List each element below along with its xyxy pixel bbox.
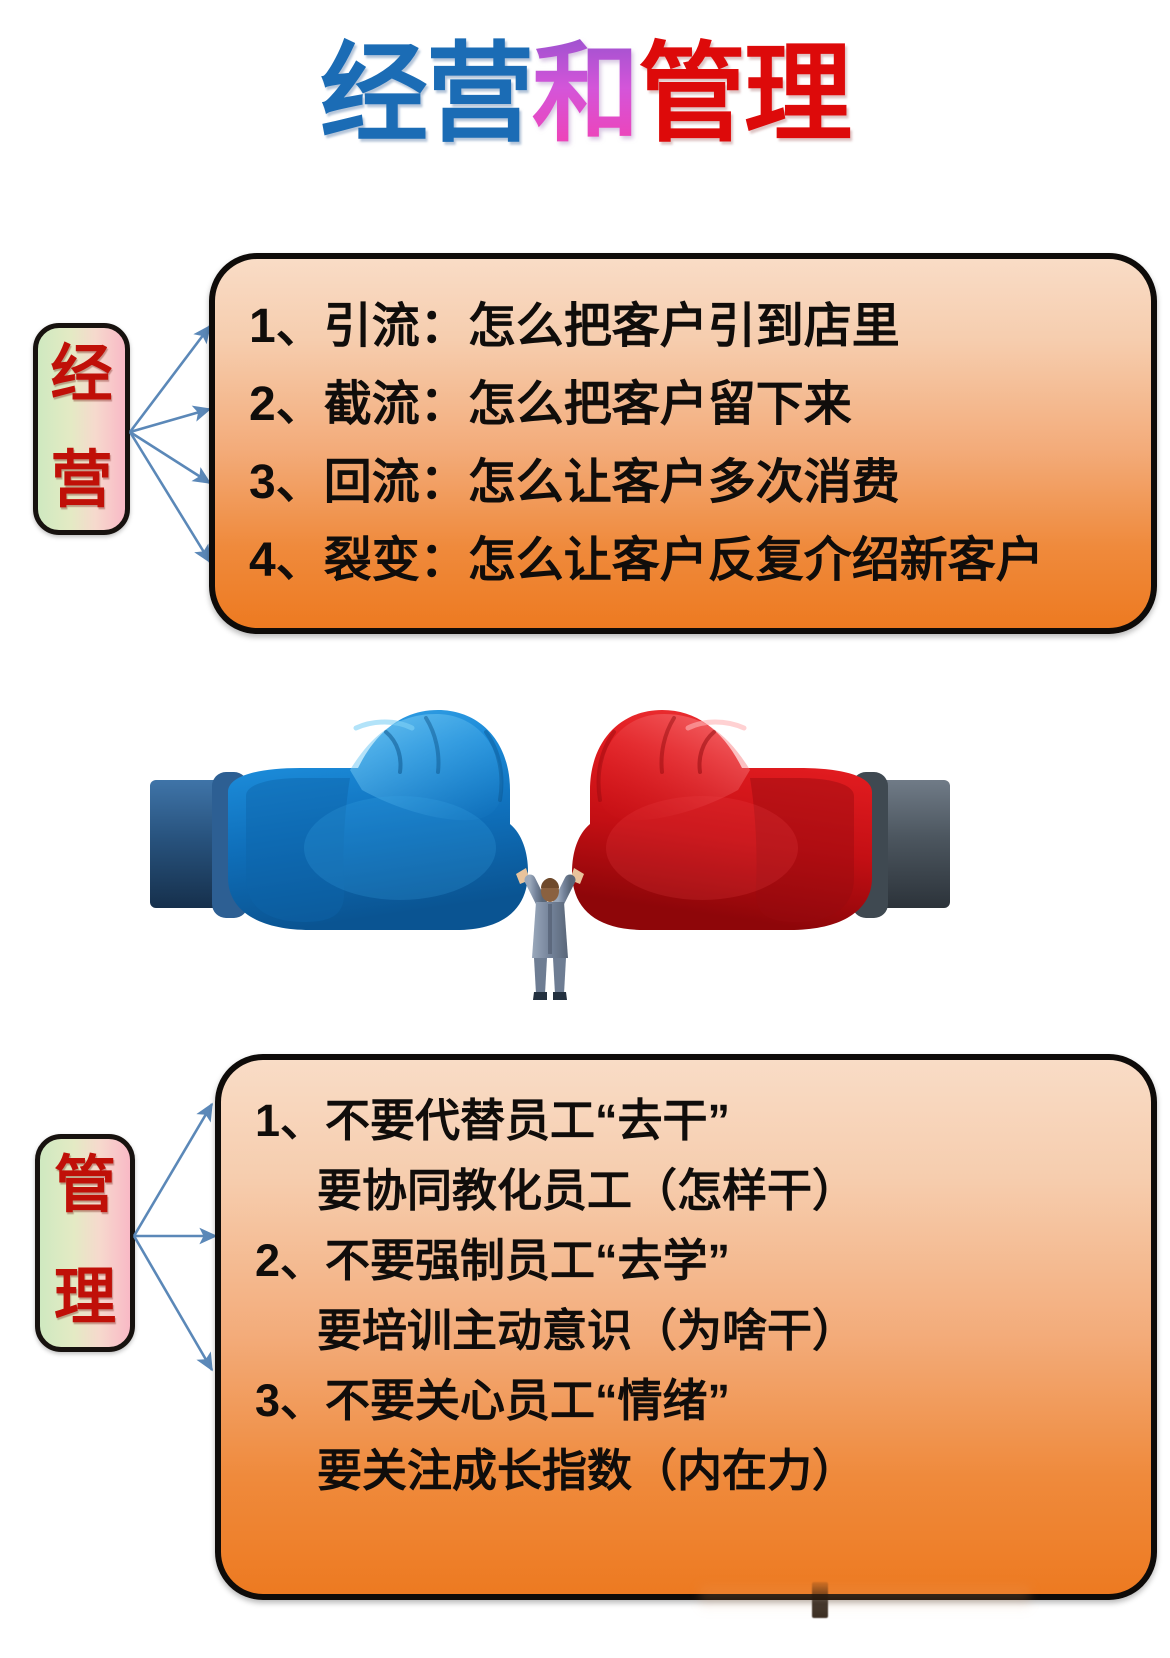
arrow-1: [130, 326, 210, 432]
operations-line-1: 1、引流：怎么把客户引到店里: [249, 303, 1125, 351]
right-boxing-glove: [572, 710, 872, 930]
management-line-6: 要关注成长指数（内在力）: [255, 1448, 1125, 1493]
management-line-5: 3、不要关心员工“情绪”: [255, 1378, 1125, 1423]
boxing-gloves-illustration: [150, 672, 950, 1002]
watermark-mark: [812, 1582, 828, 1618]
side-label-operations-char-1: 经: [50, 344, 112, 406]
title-segment-blue: 经营: [320, 34, 532, 155]
title-segment-red: 管理: [638, 34, 850, 155]
side-label-operations-char-2: 营: [50, 450, 112, 512]
panel-operations: 1、引流：怎么把客户引到店里 2、截流：怎么把客户留下来 3、回流：怎么让客户多…: [209, 253, 1157, 634]
side-label-management-char-1: 管: [54, 1155, 116, 1217]
side-label-operations: 经 营: [33, 323, 130, 535]
watermark-smudge: [700, 1586, 1030, 1612]
left-boxing-glove: [228, 710, 528, 930]
side-label-management: 管 理: [35, 1134, 135, 1352]
operations-line-3: 3、回流：怎么让客户多次消费: [249, 459, 1125, 507]
arrow-3: [130, 432, 210, 483]
panel-management: 1、不要代替员工“去干” 要协同教化员工（怎样干） 2、不要强制员工“去学” 要…: [215, 1054, 1157, 1600]
management-line-2: 要协同教化员工（怎样干）: [255, 1168, 1125, 1213]
management-line-3: 2、不要强制员工“去学”: [255, 1238, 1125, 1283]
operations-line-4: 4、裂变：怎么让客户反复介绍新客户: [249, 537, 1125, 585]
operations-line-2: 2、截流：怎么把客户留下来: [249, 381, 1125, 429]
management-line-4: 要培训主动意识（为啥干）: [255, 1308, 1125, 1353]
title-segment-pink: 和: [532, 34, 638, 155]
arrow-4: [130, 432, 210, 562]
side-label-management-char-2: 理: [54, 1267, 116, 1329]
arrow-1: [134, 1104, 212, 1236]
arrow-3: [134, 1236, 212, 1370]
management-line-1: 1、不要代替员工“去干”: [255, 1098, 1125, 1143]
page-title: 经营和管理: [0, 34, 1170, 155]
arrow-2: [130, 409, 210, 432]
